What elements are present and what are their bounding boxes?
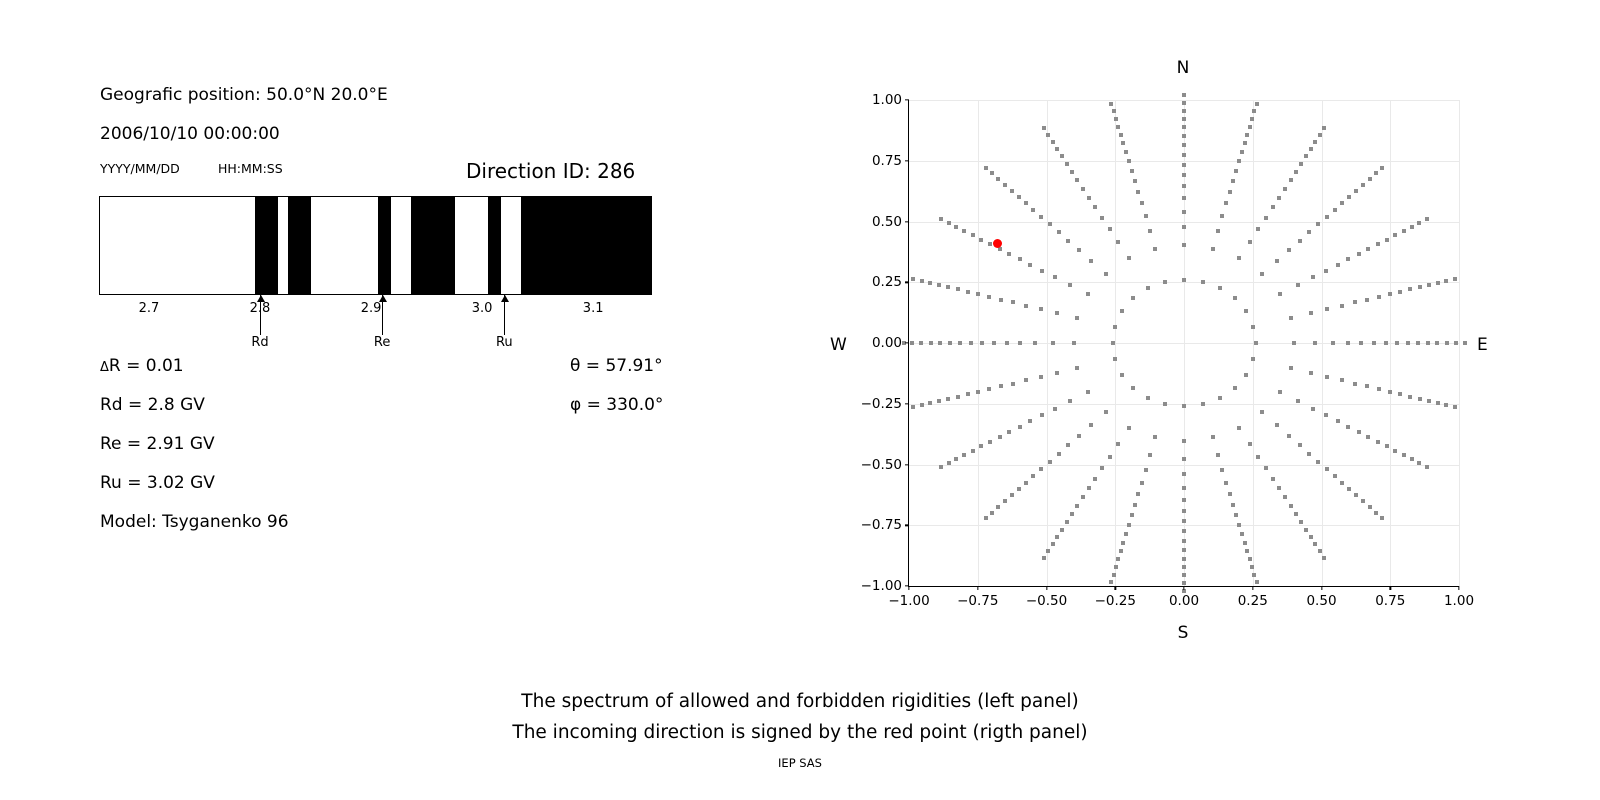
rigidity-marker-arrow-ru xyxy=(504,295,505,335)
direction-grid-dot xyxy=(1251,325,1255,329)
model-value: Model: Tsyganenko 96 xyxy=(100,512,289,532)
direction-grid-dot xyxy=(1346,341,1350,345)
gridline-vertical xyxy=(1459,100,1460,586)
rigidity-marker-label-ru: Ru xyxy=(496,335,513,350)
direction-grid-dot xyxy=(1304,528,1308,532)
direction-grid-dot xyxy=(971,449,975,453)
direction-grid-dot xyxy=(1116,240,1120,244)
gridline-horizontal xyxy=(909,161,1459,162)
direction-grid-dot xyxy=(1233,296,1237,300)
direction-grid-dot xyxy=(996,505,1000,509)
date-format-hint: YYYY/MM/DD xyxy=(100,161,180,176)
direction-grid-dot xyxy=(1182,210,1186,214)
direction-grid-dot xyxy=(1112,573,1116,577)
direction-grid-dot xyxy=(1218,396,1222,400)
direction-grid-dot xyxy=(1046,549,1050,553)
direction-ytick-label: 1.00 xyxy=(872,92,902,108)
direction-grid-dot xyxy=(956,287,960,291)
direction-grid-dot xyxy=(1182,439,1186,443)
direction-grid-dot xyxy=(1040,413,1044,417)
direction-grid-dot xyxy=(999,298,1003,302)
direction-grid-dot xyxy=(1444,279,1448,283)
delta-symbol: Δ xyxy=(100,360,109,375)
direction-grid-dot xyxy=(1075,366,1079,370)
direction-grid-dot xyxy=(1146,286,1150,290)
direction-grid-dot xyxy=(1275,259,1279,263)
direction-grid-dot xyxy=(1325,215,1329,219)
compass-label-east: E xyxy=(1477,335,1488,355)
direction-grid-dot xyxy=(987,387,991,391)
direction-grid-dot xyxy=(1121,541,1125,545)
direction-grid-dot xyxy=(1120,373,1124,377)
direction-grid-dot xyxy=(1130,169,1134,173)
direction-grid-dot xyxy=(1182,134,1186,138)
gridline-horizontal xyxy=(909,465,1459,466)
direction-grid-dot xyxy=(1309,147,1313,151)
direction-grid-dot xyxy=(1325,467,1329,471)
direction-grid-dot xyxy=(1093,205,1097,209)
direction-grid-dot xyxy=(1237,523,1241,527)
direction-grid-dot xyxy=(1182,498,1186,502)
direction-grid-dot xyxy=(1201,280,1205,284)
direction-grid-dot xyxy=(1313,140,1317,144)
direction-grid-dot xyxy=(1024,378,1028,382)
direction-grid-dot xyxy=(1086,390,1090,394)
direction-grid-dot xyxy=(1289,316,1293,320)
direction-grid-dot xyxy=(1245,549,1249,553)
direction-grid-dot xyxy=(1427,283,1431,287)
direction-grid-dot xyxy=(1116,125,1120,129)
direction-grid-dot xyxy=(1264,216,1268,220)
direction-grid-dot xyxy=(1244,373,1248,377)
ru-value: Ru = 3.02 GV xyxy=(100,473,215,493)
direction-grid-dot xyxy=(1109,102,1113,106)
direction-grid-dot xyxy=(1163,402,1167,406)
direction-grid-dot xyxy=(1435,341,1439,345)
geographic-position-label: Geografic position: 50.0°N 20.0°E xyxy=(100,85,388,105)
direction-grid-dot xyxy=(1086,292,1090,296)
direction-grid-dot xyxy=(1146,396,1150,400)
direction-grid-dot xyxy=(1380,516,1384,520)
direction-grid-dot xyxy=(1055,371,1059,375)
direction-grid-dot xyxy=(1057,230,1061,234)
datetime-label: 2006/10/10 00:00:00 xyxy=(100,124,280,144)
direction-grid-dot xyxy=(1445,341,1449,345)
direction-grid-dot xyxy=(1182,581,1186,585)
direction-grid-dot xyxy=(1406,341,1410,345)
direction-grid-dot xyxy=(1313,341,1317,345)
direction-grid-dot xyxy=(1031,208,1035,212)
direction-grid-dot xyxy=(919,341,923,345)
direction-xtick-mark xyxy=(1321,586,1322,590)
direction-grid-dot xyxy=(1309,535,1313,539)
direction-grid-dot xyxy=(1133,179,1137,183)
direction-ytick-mark xyxy=(905,221,909,222)
direction-grid-dot xyxy=(1065,520,1069,524)
direction-grid-dot xyxy=(1228,190,1232,194)
direction-grid-dot xyxy=(1182,557,1186,561)
direction-grid-dot xyxy=(1224,201,1228,205)
direction-xtick-label: −0.50 xyxy=(1026,593,1067,609)
direction-grid-dot xyxy=(1234,513,1238,517)
direction-ytick-label: −0.25 xyxy=(861,396,902,412)
direction-grid-dot xyxy=(1318,549,1322,553)
direction-grid-dot xyxy=(1182,101,1186,105)
direction-grid-dot xyxy=(971,233,975,237)
direction-grid-dot xyxy=(1093,477,1097,481)
direction-grid-dot xyxy=(1361,499,1365,503)
direction-grid-dot xyxy=(1148,229,1152,233)
direction-grid-dot xyxy=(1068,283,1072,287)
direction-grid-dot xyxy=(1003,499,1007,503)
direction-grid-dot xyxy=(1307,230,1311,234)
direction-grid-dot xyxy=(1313,542,1317,546)
direction-grid-dot xyxy=(1254,341,1258,345)
direction-grid-dot xyxy=(1182,184,1186,188)
direction-grid-dot xyxy=(1100,466,1104,470)
direction-grid-dot xyxy=(1018,341,1022,345)
direction-grid-dot xyxy=(1182,404,1186,408)
direction-grid-dot xyxy=(1322,556,1326,560)
direction-grid-dot xyxy=(1075,504,1079,508)
direction-grid-dot xyxy=(1388,292,1392,296)
direction-grid-dot xyxy=(1374,171,1378,175)
direction-grid-dot xyxy=(1298,239,1302,243)
direction-xtick-mark xyxy=(1252,586,1253,590)
direction-grid-dot xyxy=(1340,304,1344,308)
direction-grid-dot xyxy=(947,461,951,465)
direction-grid-dot xyxy=(1463,341,1467,345)
direction-grid-dot xyxy=(1240,532,1244,536)
direction-ytick-label: 0.50 xyxy=(872,214,902,230)
direction-grid-dot xyxy=(988,242,992,246)
direction-grid-dot xyxy=(962,453,966,457)
spectrum-xtick-label: 3.1 xyxy=(583,301,604,316)
direction-xtick-mark xyxy=(1458,586,1459,590)
direction-grid-dot xyxy=(1048,222,1052,226)
direction-grid-dot xyxy=(976,292,980,296)
direction-grid-dot xyxy=(1368,505,1372,509)
direction-grid-dot xyxy=(1108,227,1112,231)
direction-grid-dot xyxy=(1224,481,1228,485)
direction-grid-dot xyxy=(911,405,915,409)
direction-grid-dot xyxy=(1042,126,1046,130)
direction-grid-dot xyxy=(1039,467,1043,471)
direction-grid-dot xyxy=(1260,272,1264,276)
direction-grid-dot xyxy=(1113,357,1117,361)
direction-grid-dot xyxy=(1140,481,1144,485)
direction-grid-dot xyxy=(1346,425,1350,429)
direction-grid-dot xyxy=(1136,492,1140,496)
caption-line-1: The spectrum of allowed and forbidden ri… xyxy=(0,686,1600,717)
direction-grid-dot xyxy=(966,392,970,396)
direction-grid-dot xyxy=(1271,477,1275,481)
direction-grid-dot xyxy=(1347,487,1351,491)
direction-grid-dot xyxy=(1182,539,1186,543)
direction-grid-dot xyxy=(1005,341,1009,345)
direction-grid-dot xyxy=(1182,278,1186,282)
direction-grid-dot xyxy=(1051,140,1055,144)
gridline-horizontal xyxy=(909,525,1459,526)
direction-grid-dot xyxy=(1116,442,1120,446)
direction-grid-dot xyxy=(1307,452,1311,456)
direction-grid-dot xyxy=(980,341,984,345)
direction-id-label: Direction ID: 286 xyxy=(466,159,635,183)
direction-grid-dot xyxy=(979,444,983,448)
direction-grid-dot xyxy=(1182,486,1186,490)
direction-xtick-mark xyxy=(1115,586,1116,590)
direction-grid-dot xyxy=(1376,242,1380,246)
direction-grid-dot xyxy=(1131,296,1135,300)
direction-grid-dot xyxy=(1153,247,1157,251)
direction-grid-dot xyxy=(939,217,943,221)
direction-grid-dot xyxy=(1336,419,1340,423)
footer-credit: IEP SAS xyxy=(0,756,1600,770)
spectrum-xtick-label: 2.7 xyxy=(139,301,160,316)
compass-label-south: S xyxy=(1178,623,1189,643)
direction-ytick-mark xyxy=(905,99,909,100)
direction-ytick-mark xyxy=(905,282,909,283)
direction-grid-dot xyxy=(1277,196,1281,200)
direction-grid-dot xyxy=(1385,238,1389,242)
direction-grid-dot xyxy=(1163,280,1167,284)
direction-grid-dot xyxy=(1398,290,1402,294)
direction-grid-dot xyxy=(1042,556,1046,560)
direction-grid-dot xyxy=(1354,493,1358,497)
direction-grid-dot xyxy=(1039,215,1043,219)
direction-grid-dot xyxy=(1018,257,1022,261)
direction-grid-dot xyxy=(1398,392,1402,396)
direction-grid-dot xyxy=(1066,443,1070,447)
gridline-horizontal xyxy=(909,222,1459,223)
direction-grid-dot xyxy=(1357,430,1361,434)
direction-grid-dot xyxy=(1453,277,1457,281)
direction-grid-dot xyxy=(1425,217,1429,221)
direction-grid-dot xyxy=(1256,227,1260,231)
direction-grid-dot xyxy=(1453,405,1457,409)
direction-grid-dot xyxy=(1182,565,1186,569)
spectrum-xtick-label: 3.0 xyxy=(472,301,493,316)
direction-ytick-label: −0.50 xyxy=(861,457,902,473)
direction-grid-dot xyxy=(1252,573,1256,577)
direction-grid-dot xyxy=(954,225,958,229)
direction-grid-dot xyxy=(920,279,924,283)
direction-grid-dot xyxy=(1380,166,1384,170)
direction-grid-dot xyxy=(1237,159,1241,163)
direction-grid-dot xyxy=(990,511,994,515)
direction-grid-dot xyxy=(1182,196,1186,200)
direction-xtick-mark xyxy=(908,586,909,590)
direction-grid-dot xyxy=(1251,357,1255,361)
direction-grid-dot xyxy=(1119,549,1123,553)
direction-grid-dot xyxy=(1140,201,1144,205)
direction-grid-dot xyxy=(962,229,966,233)
direction-grid-dot xyxy=(1087,196,1091,200)
direction-ytick-label: −0.75 xyxy=(861,517,902,533)
direction-grid-dot xyxy=(1402,229,1406,233)
direction-ytick-label: 0.25 xyxy=(872,274,902,290)
direction-grid-dot xyxy=(1237,426,1241,430)
direction-grid-dot xyxy=(1322,126,1326,130)
direction-grid-dot xyxy=(1127,159,1131,163)
direction-grid-dot xyxy=(1244,309,1248,313)
direction-grid-dot xyxy=(1182,529,1186,533)
direction-grid-dot xyxy=(1068,399,1072,403)
forbidden-band xyxy=(521,197,652,294)
forbidden-band xyxy=(488,197,501,294)
direction-grid-dot xyxy=(969,341,973,345)
direction-grid-dot xyxy=(1120,309,1124,313)
compass-label-west: W xyxy=(830,335,847,355)
direction-grid-dot xyxy=(1051,341,1055,345)
direction-grid-dot xyxy=(1113,325,1117,329)
direction-grid-dot xyxy=(1089,259,1093,263)
direction-grid-dot xyxy=(937,399,941,403)
direction-grid-dot xyxy=(1104,272,1108,276)
direction-grid-dot xyxy=(1365,298,1369,302)
direction-grid-dot xyxy=(1311,275,1315,279)
direction-grid-dot xyxy=(1294,170,1298,174)
direction-grid-dot xyxy=(1028,263,1032,267)
direction-grid-dot xyxy=(1182,519,1186,523)
rigidity-marker-label-rd: Rd xyxy=(251,335,268,350)
direction-grid-dot xyxy=(946,285,950,289)
direction-grid-dot xyxy=(988,440,992,444)
direction-grid-dot xyxy=(1377,295,1381,299)
direction-xtick-label: 0.75 xyxy=(1375,593,1405,609)
direction-grid-dot xyxy=(1010,493,1014,497)
direction-grid-dot xyxy=(979,238,983,242)
direction-grid-dot xyxy=(1425,465,1429,469)
direction-ytick-label: 0.00 xyxy=(872,335,902,351)
direction-grid-dot xyxy=(1070,170,1074,174)
direction-grid-dot xyxy=(1108,455,1112,459)
direction-grid-dot xyxy=(1385,444,1389,448)
direction-ytick-mark xyxy=(905,160,909,161)
delta-r-text: R = 0.01 xyxy=(109,356,184,376)
direction-grid-dot xyxy=(1100,216,1104,220)
direction-grid-dot xyxy=(1325,307,1329,311)
direction-grid-dot xyxy=(939,465,943,469)
spectrum-xtick-label: 2.9 xyxy=(361,301,382,316)
direction-grid-dot xyxy=(1283,495,1287,499)
direction-grid-dot xyxy=(984,516,988,520)
direction-grid-dot xyxy=(1007,252,1011,256)
direction-grid-dot xyxy=(1256,455,1260,459)
direction-grid-dot xyxy=(1311,407,1315,411)
direction-grid-dot xyxy=(1316,460,1320,464)
direction-grid-dot xyxy=(1296,283,1300,287)
direction-grid-dot xyxy=(1104,410,1108,414)
direction-grid-dot xyxy=(1372,341,1376,345)
direction-grid-dot xyxy=(1114,565,1118,569)
direction-grid-dot xyxy=(1111,341,1115,345)
figure-caption: The spectrum of allowed and forbidden ri… xyxy=(0,686,1600,748)
direction-xtick-label: 1.00 xyxy=(1444,593,1474,609)
right-panel: −1.00−0.75−0.50−0.250.000.250.500.751.00… xyxy=(800,0,1600,800)
direction-grid-dot xyxy=(948,341,952,345)
direction-grid-dot xyxy=(1426,341,1430,345)
direction-grid-dot xyxy=(1116,557,1120,561)
direction-grid-dot xyxy=(1340,481,1344,485)
direction-grid-dot xyxy=(1368,177,1372,181)
direction-grid-dot xyxy=(1053,275,1057,279)
rigidity-marker-label-re: Re xyxy=(374,335,390,350)
direction-grid-dot xyxy=(1237,256,1241,260)
direction-grid-dot xyxy=(1053,407,1057,411)
direction-grid-dot xyxy=(937,283,941,287)
rigidity-spectrum-chart xyxy=(99,196,652,295)
direction-grid-dot xyxy=(1252,109,1256,113)
direction-ytick-mark xyxy=(905,403,909,404)
direction-grid-dot xyxy=(984,166,988,170)
direction-grid-dot xyxy=(1393,233,1397,237)
direction-grid-dot xyxy=(1182,125,1186,129)
forbidden-band xyxy=(378,197,391,294)
direction-xtick-label: −0.75 xyxy=(957,593,998,609)
direction-grid-dot xyxy=(1289,504,1293,508)
direction-grid-dot xyxy=(1070,512,1074,516)
compass-label-north: N xyxy=(1177,58,1190,78)
delta-r-value: ΔR = 0.01 xyxy=(100,356,184,376)
direction-grid-dot xyxy=(1444,403,1448,407)
direction-grid-dot xyxy=(1028,419,1032,423)
direction-grid-dot xyxy=(1017,487,1021,491)
direction-grid-dot xyxy=(1018,425,1022,429)
direction-grid-dot xyxy=(1039,375,1043,379)
direction-grid-dot xyxy=(1024,201,1028,205)
direction-grid-dot xyxy=(1331,341,1335,345)
direction-grid-dot xyxy=(1374,511,1378,515)
direction-grid-dot xyxy=(928,281,932,285)
caption-line-2: The incoming direction is signed by the … xyxy=(0,717,1600,748)
direction-grid-dot xyxy=(956,395,960,399)
direction-grid-dot xyxy=(1283,187,1287,191)
direction-grid-dot xyxy=(1336,263,1340,267)
direction-grid-dot xyxy=(911,277,915,281)
direction-grid-dot xyxy=(1182,472,1186,476)
direction-grid-dot xyxy=(1408,395,1412,399)
direction-xtick-label: 0.50 xyxy=(1306,593,1336,609)
direction-grid-dot xyxy=(946,397,950,401)
direction-ytick-label: −1.00 xyxy=(861,578,902,594)
direction-grid-dot xyxy=(1395,341,1399,345)
direction-grid-dot xyxy=(1410,225,1414,229)
direction-grid-dot xyxy=(1377,387,1381,391)
direction-grid-dot xyxy=(992,341,996,345)
direction-grid-dot xyxy=(1011,382,1015,386)
direction-grid-dot xyxy=(1316,222,1320,226)
direction-grid-dot xyxy=(1133,503,1137,507)
direction-grid-dot xyxy=(1240,150,1244,154)
direction-grid-dot xyxy=(1065,162,1069,166)
direction-grid-dot xyxy=(954,457,958,461)
direction-grid-dot xyxy=(1296,399,1300,403)
direction-grid-dot xyxy=(1182,509,1186,513)
direction-grid-dot xyxy=(1182,163,1186,167)
direction-grid-dot xyxy=(1255,102,1259,106)
direction-grid-dot xyxy=(1075,178,1079,182)
direction-grid-dot xyxy=(1264,466,1268,470)
direction-grid-dot xyxy=(1216,453,1220,457)
direction-xtick-mark xyxy=(1183,586,1184,590)
direction-grid-dot xyxy=(1112,109,1116,113)
direction-grid-dot xyxy=(1136,190,1140,194)
direction-grid-dot xyxy=(1277,486,1281,490)
direction-grid-dot xyxy=(1234,169,1238,173)
direction-grid-dot xyxy=(1127,256,1131,260)
direction-grid-dot xyxy=(1182,573,1186,577)
